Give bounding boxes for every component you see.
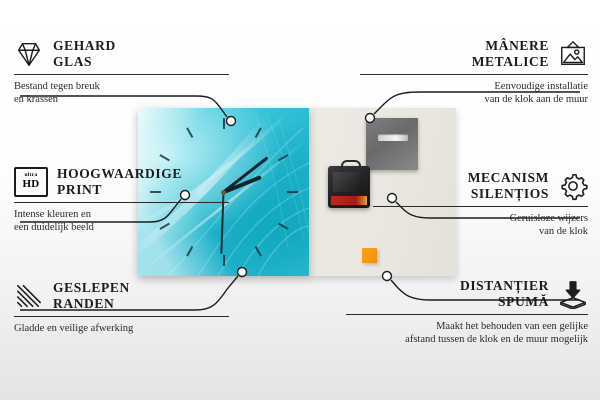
feature-title: DISTANȚIER SPUMĂ (460, 278, 549, 309)
feature-manere-metalice: MÂNERE METALICE Eenvoudige installatie v… (360, 38, 588, 106)
feature-title: HOOGWAARDIGE PRINT (57, 166, 182, 197)
picture-frame-icon (558, 39, 588, 69)
gear-icon (558, 171, 588, 201)
feature-title: MECANISM SILENȚIOS (468, 170, 549, 201)
mechanism-hook (341, 160, 361, 171)
ultra-hd-icon: ultra HD (14, 167, 48, 197)
hanger-slot (378, 134, 408, 141)
clock-tick (186, 246, 193, 257)
feature-hoogwaardige-print: ultra HD HOOGWAARDIGE PRINT Intense kleu… (14, 166, 229, 234)
clock-minute-hand (223, 156, 269, 193)
clock-tick (287, 191, 298, 193)
feature-heading: GESLEPEN RANDEN (14, 280, 229, 311)
feature-heading: DISTANȚIER SPUMĂ (346, 278, 588, 309)
feature-description: Eenvoudige installatie van de klok aan d… (360, 80, 588, 106)
feature-description: Bestand tegen breuk en krassen (14, 80, 229, 106)
divider (346, 314, 588, 315)
mechanism-highlight (333, 172, 359, 192)
feature-heading: MECANISM SILENȚIOS (373, 170, 588, 201)
spacer-arrow-icon (558, 279, 588, 309)
feature-geslepen-randen: GESLEPEN RANDEN Gladde en veilige afwerk… (14, 280, 229, 335)
feature-heading: GEHARD GLAS (14, 38, 229, 69)
feature-description: Geruisloze wijzers van de klok (373, 212, 588, 238)
feature-gehard-glas: GEHARD GLAS Bestand tegen breuk en krass… (14, 38, 229, 106)
feature-title: MÂNERE METALICE (472, 38, 549, 69)
feature-heading: MÂNERE METALICE (360, 38, 588, 69)
clock-tick (223, 118, 225, 129)
mechanism-label (331, 196, 367, 205)
feature-description: Maakt het behouden van een gelijke afsta… (346, 320, 588, 346)
metal-hanger-plate (366, 118, 418, 170)
feature-description: Intense kleuren en een duidelijk beeld (14, 208, 229, 234)
diamond-icon (14, 39, 44, 69)
divider (373, 206, 588, 207)
divider (14, 74, 229, 75)
clock-tick (278, 154, 289, 161)
feature-title: GEHARD GLAS (53, 38, 116, 69)
clock-tick (254, 127, 261, 138)
clock-tick (159, 154, 170, 161)
infographic-canvas: GEHARD GLAS Bestand tegen breuk en krass… (0, 0, 600, 400)
clock-tick (278, 223, 289, 230)
divider (14, 202, 229, 203)
beveled-edges-icon (14, 281, 44, 311)
clock-tick (254, 246, 261, 257)
feature-heading: ultra HD HOOGWAARDIGE PRINT (14, 166, 229, 197)
feature-title: GESLEPEN RANDEN (53, 280, 130, 311)
feature-description: Gladde en veilige afwerking (14, 322, 229, 335)
foam-spacer (362, 248, 377, 263)
divider (14, 316, 229, 317)
clock-tick (223, 255, 225, 266)
feature-mecanism-silentios: MECANISM SILENȚIOS Geruisloze wijzers va… (373, 170, 588, 238)
divider (360, 74, 588, 75)
clock-tick (186, 127, 193, 138)
clock-mechanism (328, 166, 370, 208)
feature-distantier-spuma: DISTANȚIER SPUMĂ Maakt het behouden van … (346, 278, 588, 346)
